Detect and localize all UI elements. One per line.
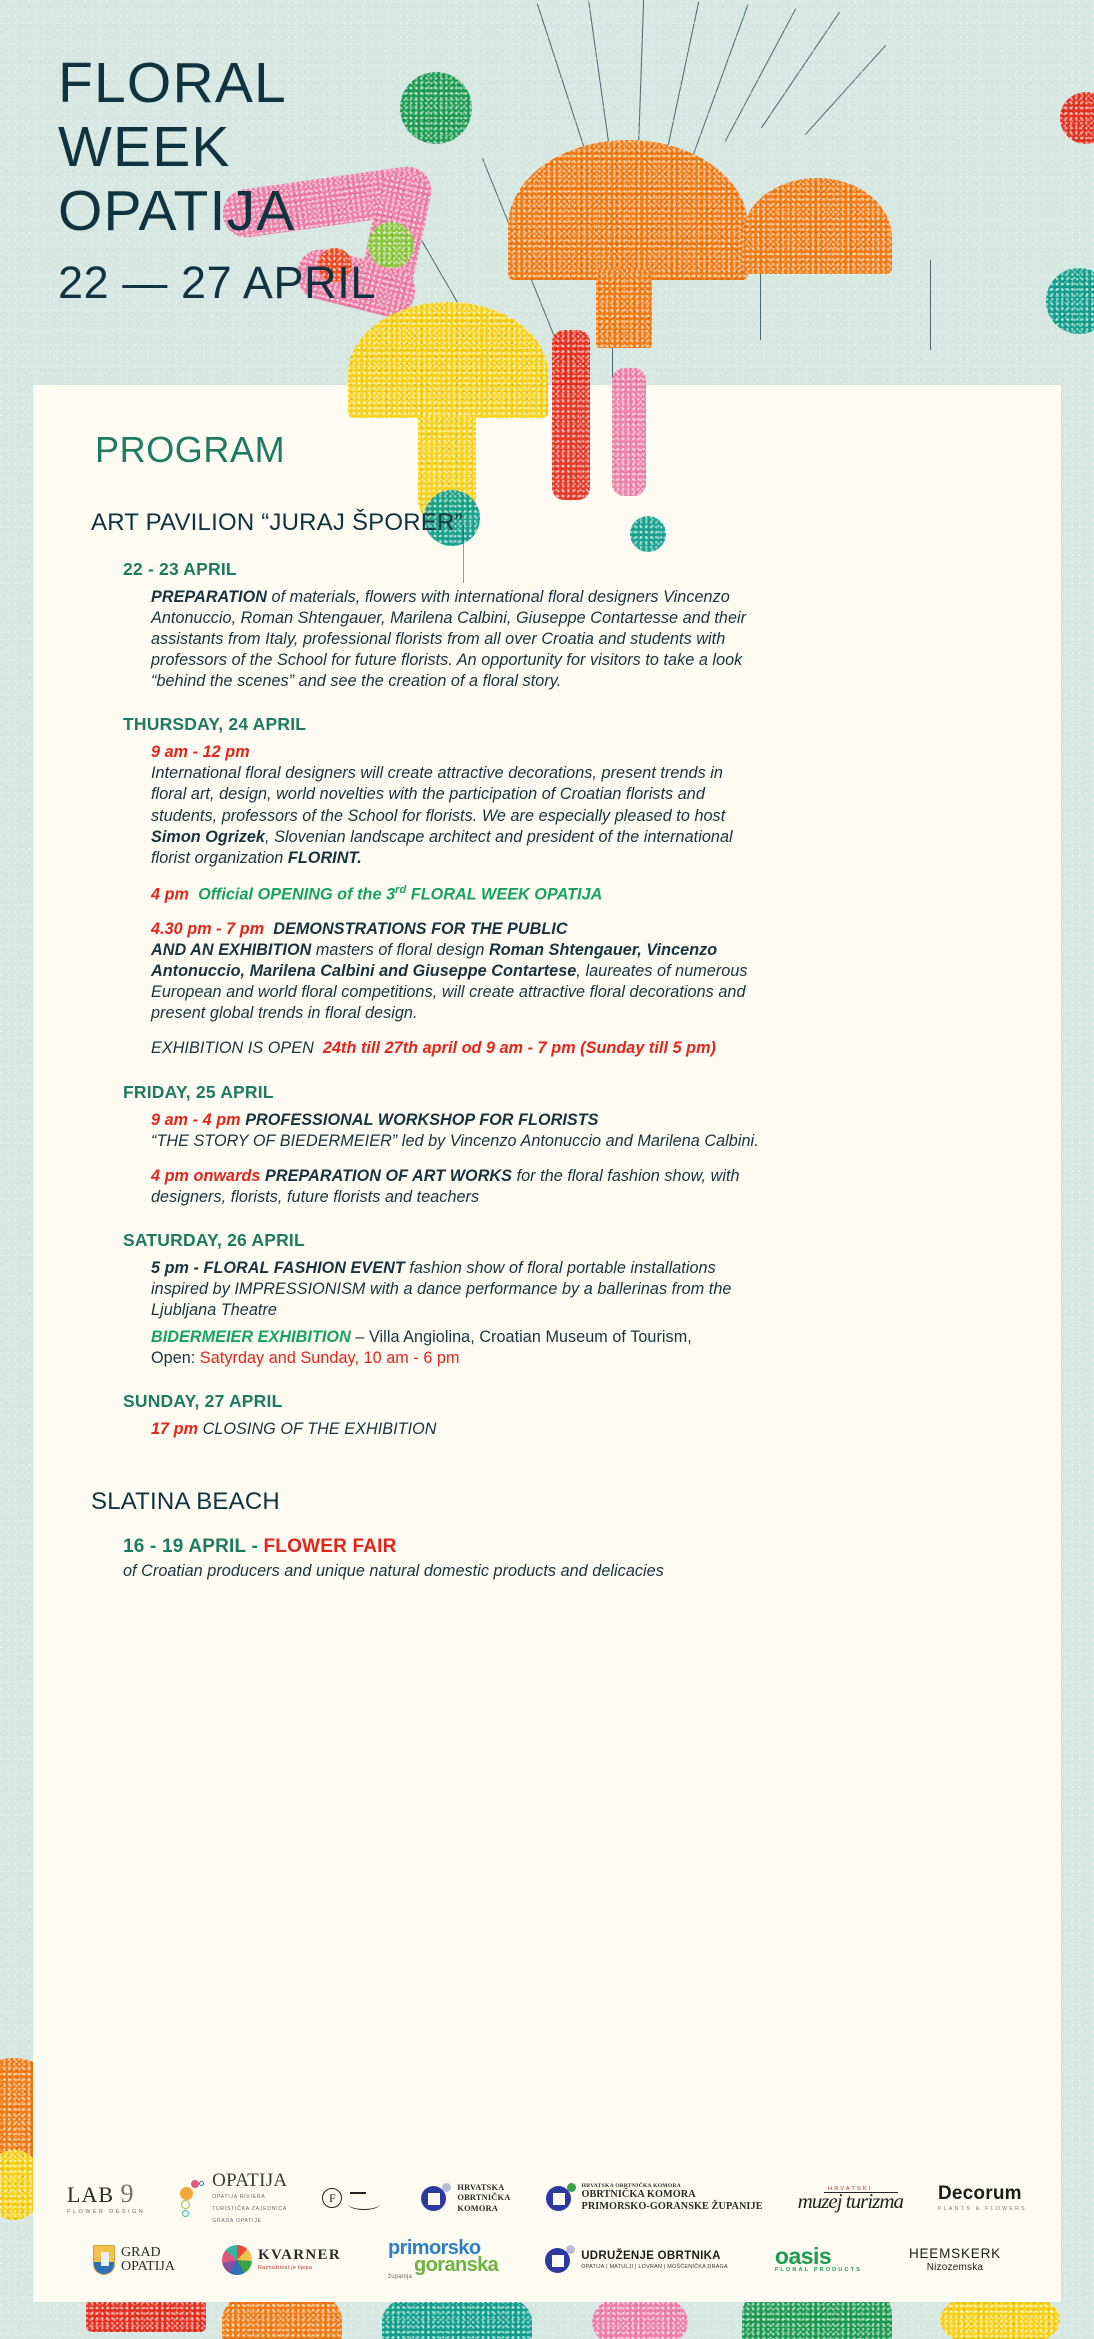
sponsor-decorum: Decorum PLANTS & FLOWERS <box>938 2184 1027 2212</box>
hanging-string <box>693 5 749 156</box>
opatija-dots-icon <box>180 2180 206 2216</box>
orange-mushroom-decor <box>508 140 748 280</box>
poster-title-line-2: WEEK <box>58 116 376 180</box>
sponsor-row-1: LAB 9 FLOWER DESIGN OPATIJA OPATIJA <box>67 2171 1027 2226</box>
poster-title-line-3: OPATIJA <box>58 180 376 244</box>
kvarner-globe-icon <box>222 2245 252 2275</box>
day-label-thursday-24-april: THURSDAY, 24 APRIL <box>123 714 1021 735</box>
sponsor-grad-opatija: GRAD OPATIJA <box>93 2245 175 2275</box>
sponsor-lab9: LAB 9 FLOWER DESIGN <box>67 2181 145 2215</box>
poster-title-line-1: FLORAL <box>58 52 376 116</box>
hanging-string <box>612 275 613 385</box>
workshop-text: “THE STORY OF BIEDERMEIER” led by Vincen… <box>151 1132 759 1150</box>
time-9am-12pm: 9 am - 12 pm <box>151 743 250 761</box>
heemskerk-wordmark: HEEMSKERK <box>909 2247 1001 2262</box>
sponsor-hrvatski-muzej-turizma: HRVATSKI muzej turizma <box>798 2186 903 2211</box>
poster-title-block: FLORAL WEEK OPATIJA 22 — 27 APRIL <box>58 52 376 309</box>
program-content: PROGRAM ART PAVILION “JURAJ ŠPORER” 22 -… <box>33 385 1061 1582</box>
sponsor-obrtnicka-komora-pgz: HRVATSKA OBRTNIČKA KOMORA OBRTNIČKA KOMO… <box>546 2183 763 2213</box>
oasis-wordmark: oasis <box>775 2246 862 2267</box>
f-circle-icon: F <box>322 2188 342 2208</box>
day-block-friday-25-april: 9 am - 4 pm PROFESSIONAL WORKSHOP FOR FL… <box>151 1110 761 1208</box>
hanging-string <box>930 260 931 350</box>
exhibition-open-line: EXHIBITION IS OPEN 24th till 27th april … <box>151 1038 761 1059</box>
venue-title-art-pavilion: ART PAVILION “JURAJ ŠPORER” <box>91 509 1021 537</box>
thursday-morning-time: 9 am - 12 pm <box>151 742 761 763</box>
sponsor-opatija-tourism: OPATIJA OPATIJA RIVIERA TURISTIČKA ZAJED… <box>180 2171 287 2226</box>
hanging-string <box>761 12 840 129</box>
hanging-string <box>588 1 613 169</box>
opening-ordinal-suffix: rd <box>395 884 406 896</box>
thursday-text-a: International floral designers will crea… <box>151 764 725 824</box>
exhibition-open-value: 24th till 27th april od 9 am - 7 pm (Sun… <box>323 1039 716 1057</box>
heemskerk-country: Nizozemska <box>909 2262 1001 2273</box>
friday-workshop-paragraph: 9 am - 4 pm PROFESSIONAL WORKSHOP FOR FL… <box>151 1110 761 1152</box>
orange-mushroom-stem <box>596 270 652 348</box>
friday-preparation-paragraph: 4 pm onwards PREPARATION OF ART WORKS fo… <box>151 1166 761 1208</box>
day-label-22-23-april: 22 - 23 APRIL <box>123 559 1021 580</box>
day-block-sunday-27-april: 17 pm CLOSING OF THE EXHIBITION <box>151 1419 761 1440</box>
demonstrations-text-c: masters of floral design <box>311 941 489 959</box>
lab9-wordmark: LAB 9 <box>67 2181 145 2207</box>
hanging-string <box>637 0 644 180</box>
kvarner-wordmark: KVARNER <box>258 2248 341 2263</box>
exhibition-heading: AND AN EXHIBITION <box>151 941 311 959</box>
time-4pm-onwards: 4 pm onwards <box>151 1167 260 1185</box>
hanging-string <box>725 9 796 142</box>
sponsor-oasis: oasis FLORAL PRODUCTS <box>775 2246 862 2273</box>
closing-text: CLOSING OF THE EXHIBITION <box>203 1420 437 1438</box>
exhibition-open-label: EXHIBITION IS OPEN <box>151 1039 314 1057</box>
kvarner-tagline: Raznožitost je lijepa <box>258 2265 341 2271</box>
f-mark-lines-icon <box>348 2185 386 2211</box>
fashion-event-heading: 5 pm - FLORAL FASHION EVENT <box>151 1259 405 1277</box>
slatina-block: of Croatian producers and unique natural… <box>123 1561 783 1582</box>
hok-line-2: OBRTNIČKA <box>457 2193 510 2204</box>
day-label-friday-25-april: FRIDAY, 25 APRIL <box>123 1082 1021 1103</box>
demonstrations-heading: DEMONSTRATIONS FOR THE PUBLIC <box>273 920 567 938</box>
time-9am-4pm: 9 am - 4 pm <box>151 1111 241 1129</box>
opatija-subtitle-1: OPATIJA RIVIERA <box>212 2193 287 2202</box>
bidermeier-heading: BIDERMEIER EXHIBITION <box>151 1328 351 1346</box>
sponsor-heemskerk: HEEMSKERK Nizozemska <box>909 2247 1001 2273</box>
day-block-22-23-april: PREPARATION of materials, flowers with i… <box>151 587 761 692</box>
pgz-logo-icon <box>546 2183 576 2213</box>
orange-mushroom-decor <box>742 178 892 274</box>
poster-canvas: FLORAL WEEK OPATIJA 22 — 27 APRIL PROGRA… <box>0 0 1094 2339</box>
opening-text: Official OPENING of the 3 <box>198 885 395 903</box>
guest-name-simon-ogrizek: Simon Ogrizek <box>151 828 265 846</box>
sponsor-kvarner: KVARNER Raznožitost je lijepa <box>222 2245 341 2275</box>
organization-florint: FLORINT. <box>288 849 362 867</box>
muzej-script-wordmark: muzej turizma <box>798 2193 903 2211</box>
hanging-string <box>805 45 886 135</box>
bidermeier-open-value: Satyrday and Sunday, 10 am - 6 pm <box>200 1349 460 1367</box>
udruzenje-wordmark: UDRUŽENJE OBRTNIKA <box>581 2250 728 2262</box>
poster-date-line: 22 — 27 APRIL <box>58 257 376 309</box>
hok-logo-icon <box>421 2183 451 2213</box>
program-heading: PROGRAM <box>95 429 1021 471</box>
grad-opatija-shield-icon <box>93 2245 115 2275</box>
day-label-saturday-26-april: SATURDAY, 26 APRIL <box>123 1230 1021 1251</box>
udruzenje-logo-icon <box>545 2245 575 2275</box>
preparation-lead: PREPARATION <box>151 588 267 606</box>
thursday-morning-paragraph: International floral designers will crea… <box>151 763 761 868</box>
demonstrations-paragraph: 4.30 pm - 7 pm DEMONSTRATIONS FOR THE PU… <box>151 919 761 1024</box>
oasis-tagline: FLORAL PRODUCTS <box>775 2267 862 2273</box>
program-panel: PROGRAM ART PAVILION “JURAJ ŠPORER” 22 -… <box>33 385 1061 2302</box>
udruzenje-cities: OPATIJA | MATULJI | LOVRAN | MOŠĆENIČKA … <box>581 2264 728 2270</box>
red-dot-decor <box>1060 92 1094 144</box>
day-block-saturday-26-april: 5 pm - FLORAL FASHION EVENT fashion show… <box>151 1258 761 1369</box>
time-430pm-7pm: 4.30 pm - 7 pm <box>151 920 264 938</box>
bidermeier-text: – Villa Angiolina, Croatian Museum of To… <box>351 1328 692 1346</box>
teal-dot-decor <box>1046 268 1094 334</box>
opatija-subtitle-3: GRADA OPATIJE <box>212 2217 287 2226</box>
sponsor-strip: LAB 9 FLOWER DESIGN OPATIJA OPATIJA <box>33 2153 1061 2302</box>
hanging-string <box>482 158 569 372</box>
opatija-subtitle-2: TURISTIČKA ZAJEDNICA <box>212 2205 287 2214</box>
slatina-text: of Croatian producers and unique natural… <box>123 1561 783 1582</box>
green-circle-decor <box>400 72 472 144</box>
fashion-event-paragraph: 5 pm - FLORAL FASHION EVENT fashion show… <box>151 1258 761 1321</box>
hanging-string <box>537 4 584 147</box>
sponsor-hrvatska-obrtnicka-komora: HRVATSKA OBRTNIČKA KOMORA <box>421 2183 510 2215</box>
preparation-paragraph: PREPARATION of materials, flowers with i… <box>151 587 761 692</box>
day-label-sunday-27-april: SUNDAY, 27 APRIL <box>123 1391 1021 1412</box>
pgz-name-line-1: OBRTNIČKA KOMORA <box>582 2189 763 2201</box>
closing-paragraph: 17 pm CLOSING OF THE EXHIBITION <box>151 1419 761 1440</box>
sponsor-primorsko-goranska: primorsko goranska županija <box>388 2240 498 2280</box>
sponsor-row-2: GRAD OPATIJA KVARNER Raznožitost je lije… <box>67 2240 1027 2280</box>
art-works-heading: PREPARATION OF ART WORKS <box>265 1167 512 1185</box>
hanging-string <box>760 250 761 340</box>
opening-text-2: FLORAL WEEK OPATIJA <box>406 885 602 903</box>
time-4pm: 4 pm <box>151 885 189 903</box>
opatija-wordmark: OPATIJA <box>212 2171 287 2190</box>
decorum-tagline: PLANTS & FLOWERS <box>938 2206 1027 2212</box>
official-opening-line: 4 pm Official OPENING of the 3rd FLORAL … <box>151 883 761 905</box>
sponsor-f-mark: F <box>322 2185 386 2211</box>
pgz-name-line-2: PRIMORSKO-GORANSKE ŽUPANIJE <box>582 2201 763 2213</box>
hok-line-1: HRVATSKA <box>457 2183 510 2194</box>
venue-title-slatina-beach: SLATINA BEACH <box>91 1488 1021 1516</box>
flower-fair-label: FLOWER FAIR <box>263 1536 396 1557</box>
decorum-wordmark: Decorum <box>938 2184 1027 2203</box>
hok-line-3: KOMORA <box>457 2204 510 2215</box>
workshop-heading: PROFESSIONAL WORKSHOP FOR FLORISTS <box>245 1111 598 1129</box>
grad-line-2: OPATIJA <box>121 2260 175 2274</box>
bidermeier-open-label: Open: <box>151 1349 195 1367</box>
day-block-thursday-24-april: 9 am - 12 pm International floral design… <box>151 742 761 1059</box>
slatina-day-label: 16 - 19 APRIL - FLOWER FAIR <box>123 1536 1021 1558</box>
lab9-tagline: FLOWER DESIGN <box>67 2209 145 2215</box>
sponsor-udruzenje-obrtnika: UDRUŽENJE OBRTNIKA OPATIJA | MATULJI | L… <box>545 2245 728 2275</box>
slatina-dates: 16 - 19 APRIL - <box>123 1536 263 1557</box>
hok-wordmark: HRVATSKA OBRTNIČKA KOMORA <box>457 2183 510 2215</box>
pg-word-goranska: goranska <box>414 2257 498 2274</box>
hanging-string <box>662 2 699 173</box>
bidermeier-paragraph: BIDERMEIER EXHIBITION – Villa Angiolina,… <box>151 1327 761 1369</box>
time-17pm: 17 pm <box>151 1420 198 1438</box>
grad-line-1: GRAD <box>121 2246 175 2260</box>
grad-opatija-wordmark: GRAD OPATIJA <box>121 2246 175 2275</box>
